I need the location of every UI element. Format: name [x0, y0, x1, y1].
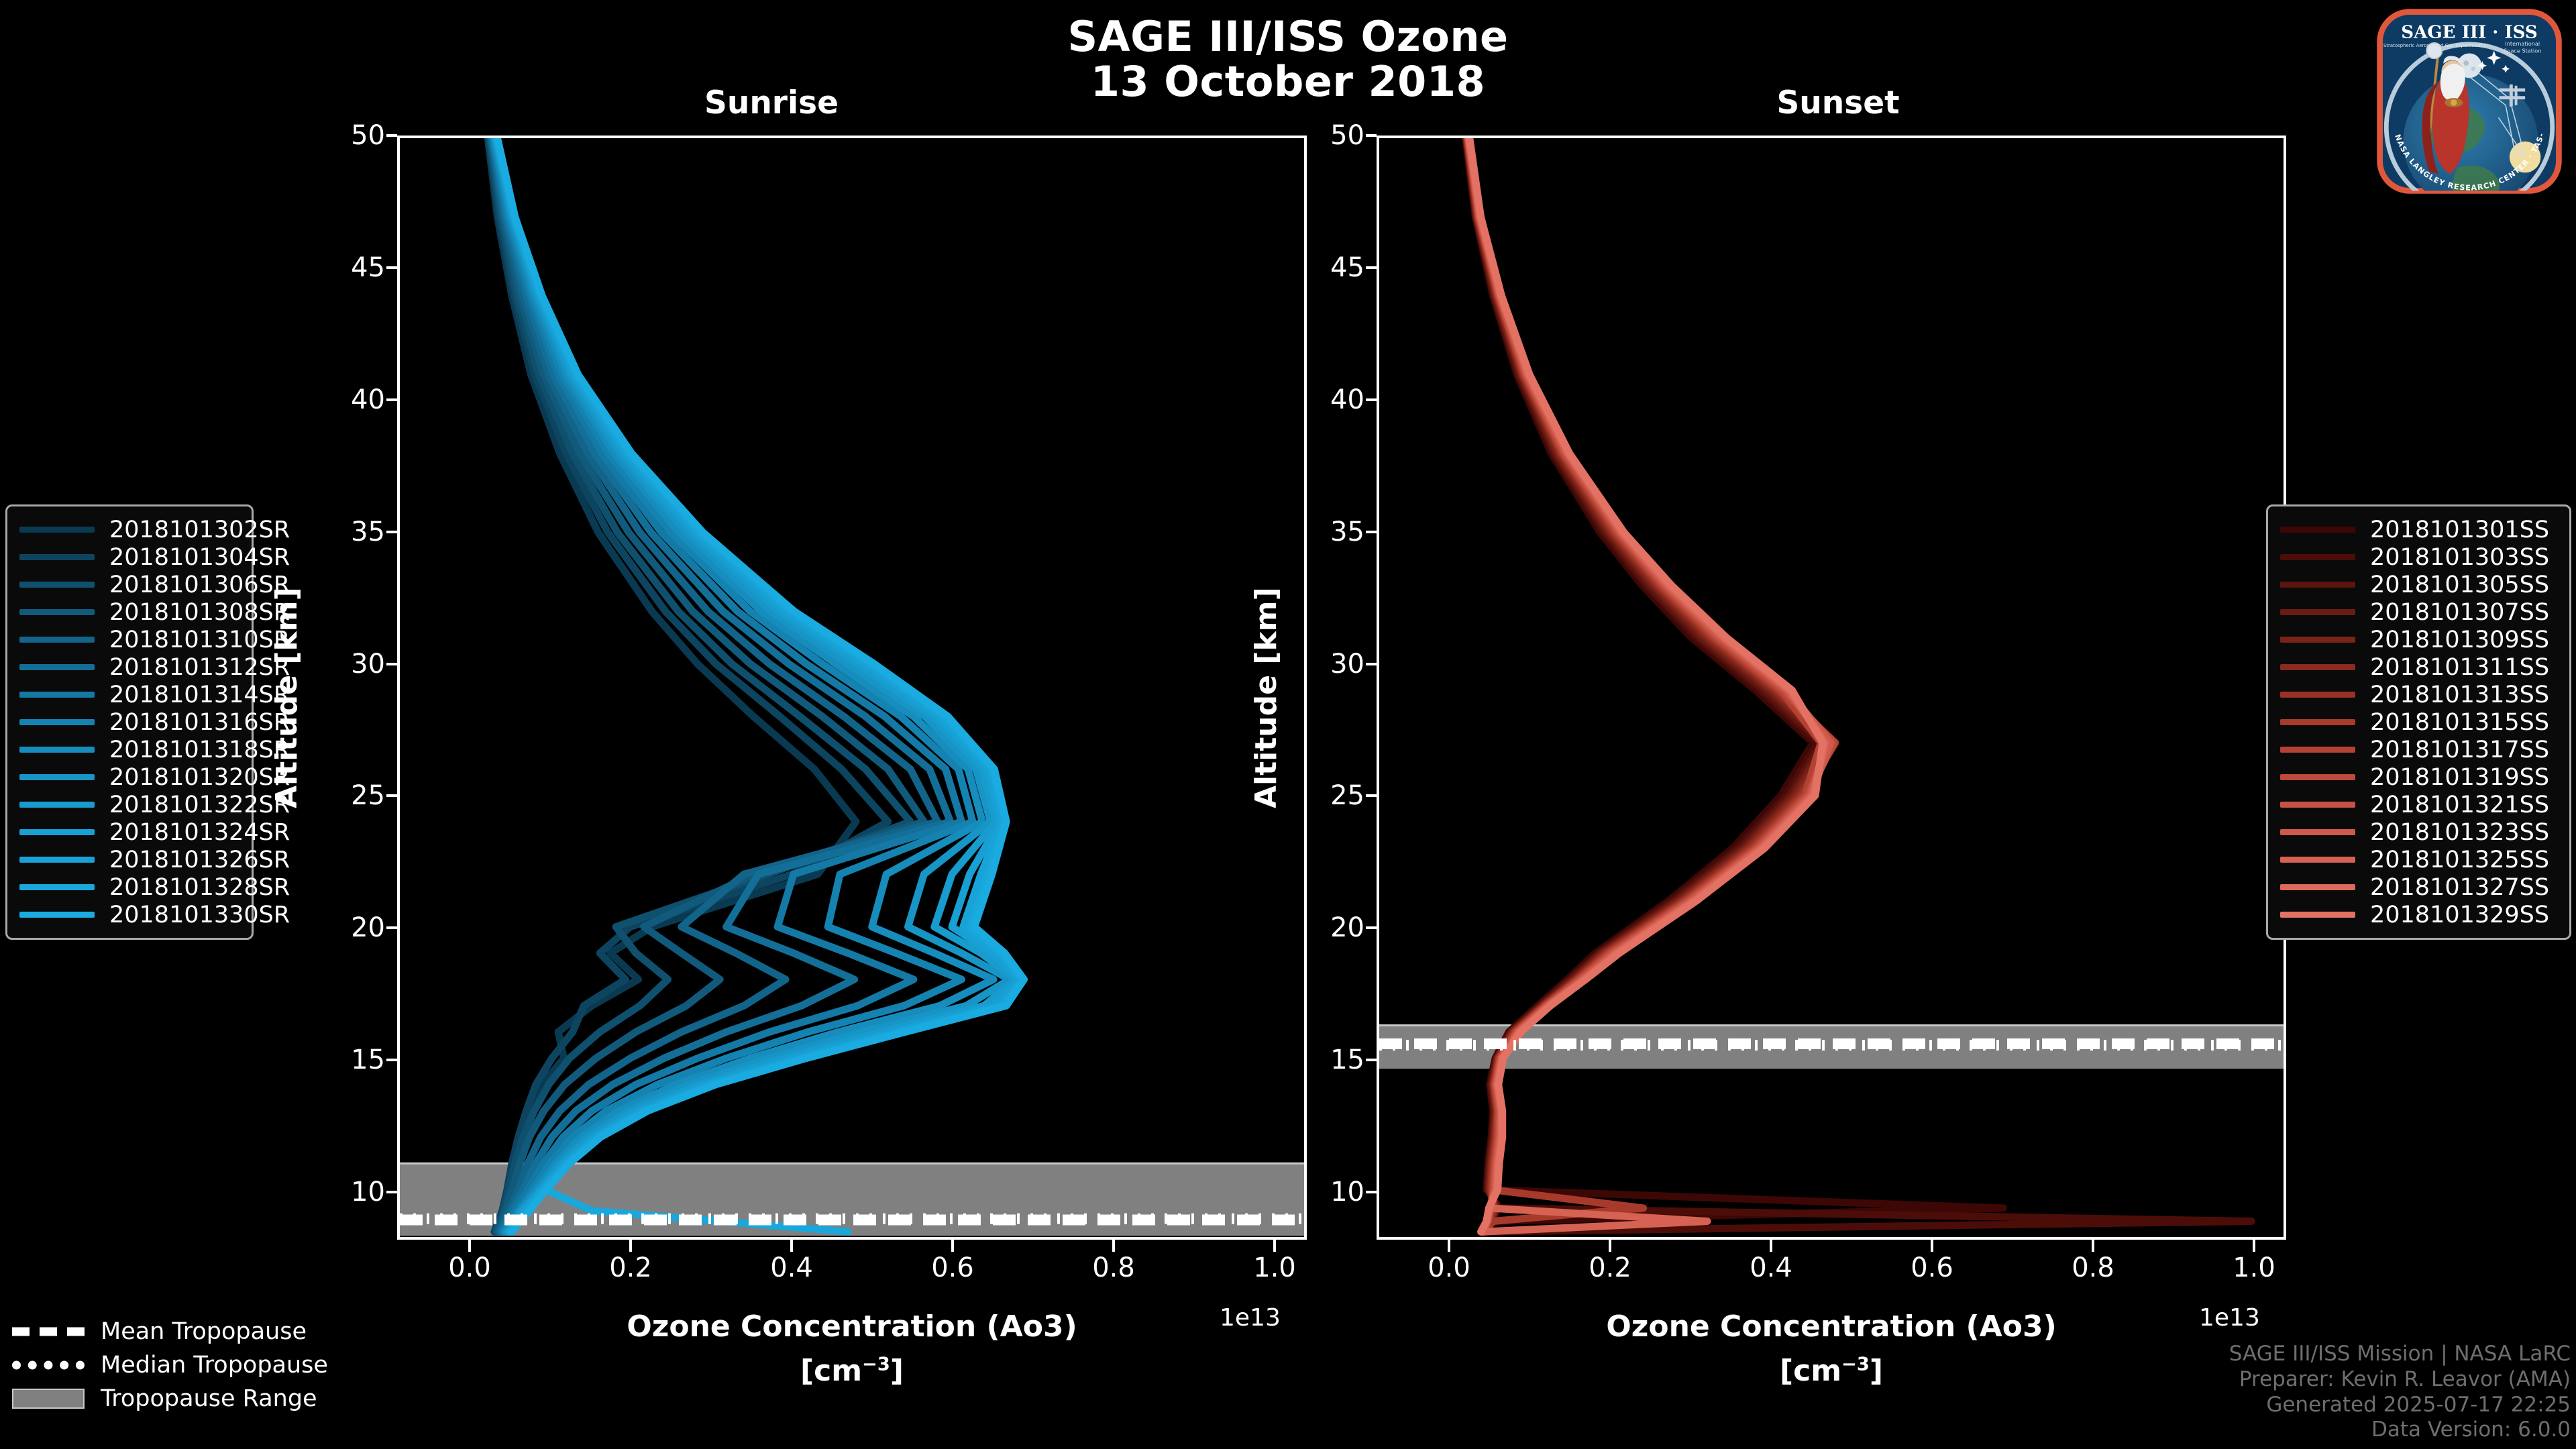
tropopause-range-label: Tropopause Range	[101, 1385, 317, 1412]
x-axis-tick-label: 0.0	[1409, 1254, 1489, 1281]
y-axis-tick-label: 15	[1297, 1046, 1364, 1073]
logo-title: SAGE III · ISS	[2401, 22, 2537, 42]
x-axis-tick-mark	[1448, 1240, 1450, 1252]
y-axis-tick-label: 20	[318, 914, 385, 941]
legend-item[interactable]: 2018101319SS	[2280, 763, 2557, 791]
y-axis-tick-label: 50	[318, 122, 385, 149]
legend-item[interactable]: 2018101330SR	[19, 901, 239, 928]
x-axis-exponent-label: 1e13	[1220, 1304, 1281, 1332]
legend-item[interactable]: 2018101323SS	[2280, 818, 2557, 846]
legend-item-label: 2018101302SR	[109, 517, 290, 543]
legend-item[interactable]: 2018101307SS	[2280, 598, 2557, 626]
x-axis-units-label: [cm−3]	[1377, 1354, 2286, 1388]
legend-item[interactable]: 2018101328SR	[19, 873, 239, 901]
legend-line-swatch-icon	[2280, 802, 2355, 808]
dashed-line-icon	[12, 1324, 85, 1339]
legend-item-label: 2018101315SS	[2370, 709, 2549, 736]
legend-item-tropopause-range: Tropopause Range	[12, 1382, 482, 1415]
sunset-legend[interactable]: 2018101301SS2018101303SS2018101305SS2018…	[2266, 504, 2571, 940]
legend-item-label: 2018101301SS	[2370, 517, 2549, 543]
legend-item-label: 2018101310SR	[109, 627, 290, 653]
legend-item[interactable]: 2018101329SS	[2280, 901, 2557, 928]
legend-item-label: 2018101326SR	[109, 847, 290, 873]
legend-item[interactable]: 2018101303SS	[2280, 543, 2557, 571]
y-axis-tick-label: 40	[318, 386, 385, 413]
legend-item-label: 2018101316SR	[109, 709, 290, 736]
legend-item-label: 2018101309SS	[2370, 627, 2549, 653]
legend-item[interactable]: 2018101312SR	[19, 653, 239, 681]
y-axis-tick-mark	[386, 926, 397, 929]
legend-item[interactable]: 2018101310SR	[19, 626, 239, 653]
legend-item[interactable]: 2018101317SS	[2280, 736, 2557, 763]
logo-subtitle-right-1: International	[2505, 40, 2540, 47]
legend-item-label: 2018101304SR	[109, 544, 290, 571]
x-axis-tick-mark	[468, 1240, 471, 1252]
median-tropopause-label: Median Tropopause	[101, 1352, 328, 1379]
y-axis-tick-label: 20	[1297, 914, 1364, 941]
legend-item-label: 2018101327SS	[2370, 874, 2549, 901]
legend-item[interactable]: 2018101315SS	[2280, 708, 2557, 736]
y-axis-tick-mark	[386, 398, 397, 401]
y-axis-tick-label: 45	[1297, 254, 1364, 281]
y-axis-tick-label: 30	[1297, 651, 1364, 678]
legend-item[interactable]: 2018101322SR	[19, 791, 239, 818]
y-axis-tick-label: 25	[1297, 782, 1364, 809]
legend-item-mean-tropopause: Mean Tropopause	[12, 1315, 482, 1348]
legend-item-label: 2018101329SS	[2370, 902, 2549, 928]
y-axis-tick-label: 25	[318, 782, 385, 809]
sunset-panel-title: Sunset	[1536, 85, 2140, 121]
y-axis-tick-mark	[1366, 531, 1377, 533]
sage-iii-iss-mission-patch-logo: SAGE III · ISS Stratospheric Aerosol and…	[2372, 4, 2567, 199]
y-axis-tick-mark	[1366, 266, 1377, 269]
x-axis-units-label: [cm−3]	[397, 1354, 1307, 1388]
legend-line-swatch-icon	[2280, 609, 2355, 615]
mission-patch-svg: SAGE III · ISS Stratospheric Aerosol and…	[2372, 4, 2567, 199]
y-axis-tick-mark	[1366, 1191, 1377, 1193]
legend-line-swatch-icon	[19, 774, 95, 780]
legend-line-swatch-icon	[19, 747, 95, 753]
y-axis-tick-label: 35	[318, 519, 385, 545]
y-axis-tick-mark	[1366, 794, 1377, 797]
legend-item-median-tropopause: Median Tropopause	[12, 1348, 482, 1382]
legend-line-swatch-icon	[19, 912, 95, 918]
legend-line-swatch-icon	[2280, 774, 2355, 780]
legend-item[interactable]: 2018101305SS	[2280, 571, 2557, 598]
x-axis-tick-mark	[1273, 1240, 1276, 1252]
legend-line-swatch-icon	[2280, 527, 2355, 533]
legend-item[interactable]: 2018101326SR	[19, 846, 239, 873]
y-axis-tick-mark	[386, 1059, 397, 1061]
y-axis-tick-mark	[1366, 663, 1377, 665]
legend-item-label: 2018101321SS	[2370, 792, 2549, 818]
y-axis-tick-mark	[1366, 134, 1377, 137]
legend-item[interactable]: 2018101301SS	[2280, 516, 2557, 543]
legend-line-swatch-icon	[2280, 637, 2355, 643]
y-axis-tick-label: 10	[318, 1179, 385, 1205]
sunset-plot-svg	[1379, 138, 2284, 1237]
legend-item-label: 2018101319SS	[2370, 764, 2549, 791]
x-axis-tick-mark	[1609, 1240, 1611, 1252]
x-axis-tick-mark	[2092, 1240, 2094, 1252]
legend-item-label: 2018101318SR	[109, 737, 290, 763]
x-axis-label: Ozone Concentration (Ao3)	[1377, 1309, 2286, 1344]
legend-line-swatch-icon	[19, 829, 95, 835]
legend-line-swatch-icon	[2280, 829, 2355, 835]
legend-item[interactable]: 2018101316SR	[19, 708, 239, 736]
y-axis-tick-mark	[1366, 1059, 1377, 1061]
legend-item[interactable]: 2018101304SR	[19, 543, 239, 571]
legend-item-label: 2018101308SR	[109, 599, 290, 626]
x-axis-tick-mark	[1931, 1240, 1933, 1252]
y-axis-tick-mark	[386, 266, 397, 269]
legend-item[interactable]: 2018101306SR	[19, 571, 239, 598]
legend-item-label: 2018101313SS	[2370, 682, 2549, 708]
y-axis-tick-mark	[386, 663, 397, 665]
logo-subtitle-left: Stratospheric Aerosol and Gas Experiment…	[2383, 43, 2488, 48]
tropopause-legend: Mean Tropopause Median Tropopause Tropop…	[12, 1315, 482, 1415]
legend-item-label: 2018101330SR	[109, 902, 290, 928]
x-axis-tick-mark	[1770, 1240, 1772, 1252]
legend-item-label: 2018101312SR	[109, 654, 290, 681]
legend-line-swatch-icon	[2280, 719, 2355, 725]
x-axis-tick-label: 0.8	[1073, 1254, 1154, 1281]
legend-line-swatch-icon	[2280, 884, 2355, 890]
legend-line-swatch-icon	[2280, 554, 2355, 560]
x-axis-tick-label: 0.2	[590, 1254, 671, 1281]
y-axis-tick-mark	[386, 794, 397, 797]
legend-line-swatch-icon	[2280, 912, 2355, 918]
mean-tropopause-label: Mean Tropopause	[101, 1318, 307, 1345]
legend-line-swatch-icon	[19, 802, 95, 808]
legend-item[interactable]: 2018101308SR	[19, 598, 239, 626]
sunrise-panel-title: Sunrise	[470, 85, 1073, 121]
legend-item-label: 2018101320SR	[109, 764, 290, 791]
legend-line-swatch-icon	[19, 637, 95, 643]
sunrise-plot-svg	[400, 138, 1304, 1237]
credits-line-3: Generated 2025-07-17 22:25	[2229, 1393, 2571, 1418]
legend-item[interactable]: 2018101311SS	[2280, 653, 2557, 681]
legend-item-label: 2018101324SR	[109, 819, 290, 846]
legend-line-swatch-icon	[19, 719, 95, 725]
legend-line-swatch-icon	[2280, 664, 2355, 670]
legend-item[interactable]: 2018101327SS	[2280, 873, 2557, 901]
legend-line-swatch-icon	[19, 664, 95, 670]
y-axis-tick-label: 40	[1297, 386, 1364, 413]
y-axis-tick-mark	[1366, 926, 1377, 929]
y-axis-tick-mark	[386, 531, 397, 533]
logo-subtitle-right-2: Space Station	[2504, 48, 2541, 54]
legend-line-swatch-icon	[2280, 857, 2355, 863]
legend-line-swatch-icon	[19, 582, 95, 588]
legend-item-label: 2018101303SS	[2370, 544, 2549, 571]
legend-line-swatch-icon	[19, 609, 95, 615]
credits-line-2: Preparer: Kevin R. Leavor (AMA)	[2229, 1367, 2571, 1393]
legend-line-swatch-icon	[2280, 582, 2355, 588]
legend-item[interactable]: 2018101309SS	[2280, 626, 2557, 653]
x-axis-exponent-label: 1e13	[2199, 1304, 2260, 1332]
y-axis-tick-label: 10	[1297, 1179, 1364, 1205]
y-axis-tick-label: 30	[318, 651, 385, 678]
legend-item-label: 2018101305SS	[2370, 572, 2549, 598]
legend-item[interactable]: 2018101302SR	[19, 516, 239, 543]
legend-line-swatch-icon	[2280, 692, 2355, 698]
legend-item-label: 2018101323SS	[2370, 819, 2549, 846]
x-axis-tick-mark	[2253, 1240, 2255, 1252]
legend-line-swatch-icon	[19, 527, 95, 533]
legend-line-swatch-icon	[2280, 747, 2355, 753]
y-axis-tick-mark	[386, 1191, 397, 1193]
x-axis-tick-label: 0.4	[1731, 1254, 1811, 1281]
legend-item[interactable]: 2018101318SR	[19, 736, 239, 763]
y-axis-tick-mark	[386, 134, 397, 137]
legend-item-label: 2018101307SS	[2370, 599, 2549, 626]
dotted-line-icon	[12, 1358, 85, 1373]
legend-item-label: 2018101314SR	[109, 682, 290, 708]
x-axis-label: Ozone Concentration (Ao3)	[397, 1309, 1307, 1344]
x-axis-tick-label: 0.2	[1570, 1254, 1650, 1281]
legend-item[interactable]: 2018101324SR	[19, 818, 239, 846]
x-axis-tick-label: 0.6	[1892, 1254, 1972, 1281]
y-axis-tick-mark	[1366, 398, 1377, 401]
credits-line-4: Data Version: 6.0.0	[2229, 1417, 2571, 1443]
title-line-2: 13 October 2018	[0, 60, 2576, 105]
x-axis-tick-mark	[790, 1240, 793, 1252]
legend-item-label: 2018101306SR	[109, 572, 290, 598]
x-axis-tick-mark	[629, 1240, 632, 1252]
legend-item-label: 2018101317SS	[2370, 737, 2549, 763]
legend-item[interactable]: 2018101314SR	[19, 681, 239, 708]
legend-item[interactable]: 2018101320SR	[19, 763, 239, 791]
legend-item-label: 2018101322SR	[109, 792, 290, 818]
credits-block: SAGE III/ISS Mission | NASA LaRC Prepare…	[2229, 1342, 2571, 1443]
x-axis-tick-label: 0.8	[2053, 1254, 2133, 1281]
y-axis-tick-label: 50	[1297, 122, 1364, 149]
legend-item-label: 2018101311SS	[2370, 654, 2549, 681]
x-axis-tick-label: 1.0	[2214, 1254, 2294, 1281]
x-axis-tick-label: 0.0	[429, 1254, 510, 1281]
x-axis-tick-mark	[1112, 1240, 1115, 1252]
legend-line-swatch-icon	[19, 857, 95, 863]
x-axis-tick-label: 0.4	[751, 1254, 832, 1281]
legend-line-swatch-icon	[19, 692, 95, 698]
credits-line-1: SAGE III/ISS Mission | NASA LaRC	[2229, 1342, 2571, 1367]
x-axis-tick-mark	[951, 1240, 954, 1252]
y-axis-tick-label: 35	[1297, 519, 1364, 545]
legend-item[interactable]: 2018101313SS	[2280, 681, 2557, 708]
sunrise-legend[interactable]: 2018101302SR2018101304SR2018101306SR2018…	[5, 504, 254, 940]
legend-item-label: 2018101325SS	[2370, 847, 2549, 873]
sunrise-plot-area	[397, 136, 1307, 1240]
x-axis-tick-label: 1.0	[1234, 1254, 1315, 1281]
page-title: SAGE III/ISS Ozone 13 October 2018	[0, 15, 2576, 105]
legend-line-swatch-icon	[19, 554, 95, 560]
title-line-1: SAGE III/ISS Ozone	[1067, 12, 1508, 61]
y-axis-tick-label: 15	[318, 1046, 385, 1073]
x-axis-tick-label: 0.6	[912, 1254, 993, 1281]
legend-line-swatch-icon	[19, 884, 95, 890]
legend-item[interactable]: 2018101325SS	[2280, 846, 2557, 873]
legend-item[interactable]: 2018101321SS	[2280, 791, 2557, 818]
legend-item-label: 2018101328SR	[109, 874, 290, 901]
sunset-plot-area	[1377, 136, 2286, 1240]
y-axis-tick-label: 45	[318, 254, 385, 281]
gray-band-icon	[12, 1391, 85, 1406]
